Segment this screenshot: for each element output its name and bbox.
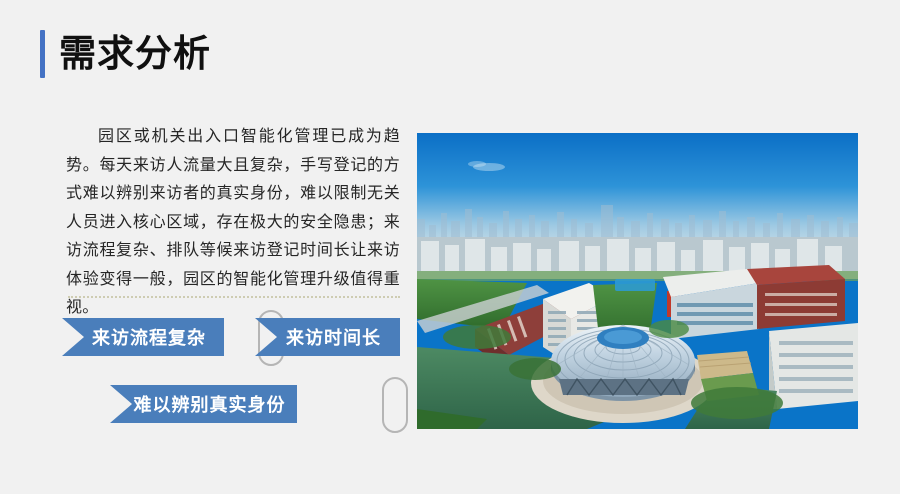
page-title: 需求分析	[40, 30, 211, 78]
title-text: 需求分析	[59, 30, 211, 78]
tag-label: 来访流程复杂	[68, 324, 218, 350]
photo-illustration	[417, 133, 858, 429]
tag-label: 难以辨别真实身份	[110, 391, 298, 417]
capsule-outline-decoration	[382, 377, 408, 433]
dotted-divider	[68, 296, 400, 298]
bottom-strip	[0, 494, 900, 504]
ribbon-shape: 难以辨别真实身份	[110, 385, 297, 423]
body-paragraph: 园区或机关出入口智能化管理已成为趋势。每天来访人流量大且复杂，手写登记的方式难以…	[66, 122, 400, 322]
campus-aerial-photo	[417, 133, 858, 429]
tag-label: 来访时间长	[262, 324, 393, 350]
ribbon-shape: 来访流程复杂	[62, 318, 224, 356]
slide: 需求分析 园区或机关出入口智能化管理已成为趋势。每天来访人流量大且复杂，手写登记…	[0, 0, 900, 504]
title-accent-bar	[40, 30, 45, 78]
